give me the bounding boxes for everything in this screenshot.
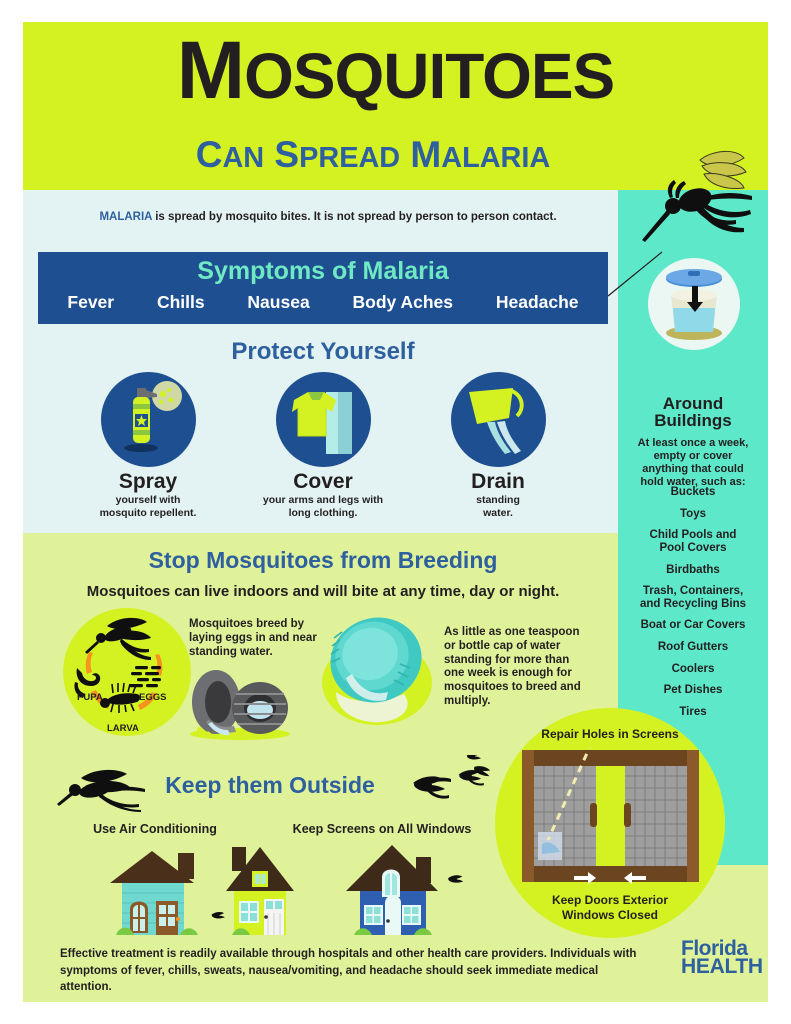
symptom-item: Body Aches bbox=[353, 292, 454, 313]
list-item: Toys bbox=[620, 508, 766, 521]
page-subtitle: CAN SPREAD MALARIA bbox=[23, 136, 723, 173]
protect-desc: your arms and legs with long clothing. bbox=[233, 494, 413, 519]
protect-item-drain: Drain standing water. bbox=[408, 372, 588, 519]
protect-item-spray: Spray yourself with mosquito repellent. bbox=[58, 372, 238, 519]
symptom-item: Headache bbox=[496, 292, 579, 313]
protect-word: Spray bbox=[58, 471, 238, 493]
list-item: Birdbaths bbox=[620, 564, 766, 577]
protect-yourself-title: Protect Yourself bbox=[38, 338, 608, 366]
protect-word: Drain bbox=[408, 471, 588, 493]
symptom-item: Chills bbox=[157, 292, 205, 313]
list-item: Buckets bbox=[620, 486, 766, 499]
list-item: Boat or Car Covers bbox=[620, 619, 766, 632]
life-cycle-icons bbox=[63, 608, 191, 736]
protect-desc: standing water. bbox=[408, 494, 588, 519]
mosquito-illustration-icon bbox=[640, 148, 770, 258]
keep-doors-closed-label: Keep Doors Exterior Windows Closed bbox=[495, 893, 725, 923]
cycle-label-pupa: PUPA bbox=[77, 692, 103, 703]
drain-icon-circle bbox=[451, 372, 546, 467]
list-item: Child Pools and Pool Covers bbox=[620, 529, 766, 554]
repair-holes-title: Repair Holes in Screens bbox=[495, 727, 725, 741]
cycle-label-eggs: EGGS bbox=[139, 692, 166, 703]
protect-desc: yourself with mosquito repellent. bbox=[58, 494, 238, 519]
protect-word: Cover bbox=[233, 471, 413, 493]
breeding-title: Stop Mosquitoes from Breeding bbox=[38, 547, 608, 574]
intro-rest: is spread by mosquito bites. It is not s… bbox=[152, 211, 557, 223]
houses-illustration-icon bbox=[90, 845, 500, 945]
spray-bottle-icon bbox=[101, 372, 196, 467]
around-buildings-lead: At least once a week, empty or cover any… bbox=[620, 437, 766, 489]
bottle-cap-icon bbox=[318, 608, 443, 733]
footer-text: Effective treatment is readily available… bbox=[60, 946, 640, 996]
list-item: Trash, Containers, and Recycling Bins bbox=[620, 585, 766, 610]
symptom-item: Nausea bbox=[247, 292, 309, 313]
intro-text: MALARIA is spread by mosquito bites. It … bbox=[38, 211, 618, 223]
covered-bucket-icon bbox=[648, 258, 740, 350]
keep-outside-title: Keep them Outside bbox=[140, 772, 400, 799]
poster-root: MOSQUITOES CAN SPREAD MALARIA MALARIA is… bbox=[0, 0, 791, 1024]
symptoms-panel: Symptoms of Malaria Fever Chills Nausea … bbox=[38, 252, 608, 324]
mosquito-small-icon bbox=[55, 762, 150, 812]
breeding-text-right: As little as one teaspoon or bottle cap … bbox=[444, 626, 589, 709]
breeding-text-left: Mosquitoes breed by laying eggs in and n… bbox=[189, 618, 334, 659]
long-clothing-icon bbox=[276, 372, 371, 467]
protect-yourself-row: Spray yourself with mosquito repellent. … bbox=[38, 372, 608, 527]
keep-screens-label: Keep Screens on All Windows bbox=[272, 822, 492, 836]
list-item: Roof Gutters bbox=[620, 641, 766, 654]
spray-icon-circle bbox=[101, 372, 196, 467]
intro-highlight: MALARIA bbox=[99, 211, 152, 223]
florida-health-logo: Florida HEALTH bbox=[681, 940, 763, 977]
symptoms-list: Fever Chills Nausea Body Aches Headache bbox=[38, 292, 608, 313]
life-cycle-diagram: PUPA EGGS LARVA bbox=[63, 608, 191, 736]
tires-illustration-icon bbox=[178, 660, 303, 740]
pouring-bucket-icon bbox=[451, 372, 546, 467]
use-air-conditioning-label: Use Air Conditioning bbox=[60, 822, 250, 836]
list-item: Coolers bbox=[620, 663, 766, 676]
window-screen-icon bbox=[518, 748, 703, 888]
list-item: Pet Dishes bbox=[620, 684, 766, 697]
protect-item-cover: Cover your arms and legs with long cloth… bbox=[233, 372, 413, 519]
logo-line-health: HEALTH bbox=[681, 958, 763, 977]
bucket-icon-circle bbox=[648, 258, 740, 350]
cover-icon-circle bbox=[276, 372, 371, 467]
around-buildings-list: Buckets Toys Child Pools and Pool Covers… bbox=[620, 486, 766, 728]
cycle-label-larva: LARVA bbox=[107, 723, 139, 734]
flying-mosquitoes-icon bbox=[405, 755, 510, 810]
breeding-subtitle: Mosquitoes can live indoors and will bit… bbox=[38, 583, 608, 600]
page-title: MOSQUITOES bbox=[23, 30, 768, 112]
around-buildings-title: Around Buildings bbox=[618, 395, 768, 430]
symptom-item: Fever bbox=[67, 292, 114, 313]
symptoms-title: Symptoms of Malaria bbox=[38, 257, 608, 286]
